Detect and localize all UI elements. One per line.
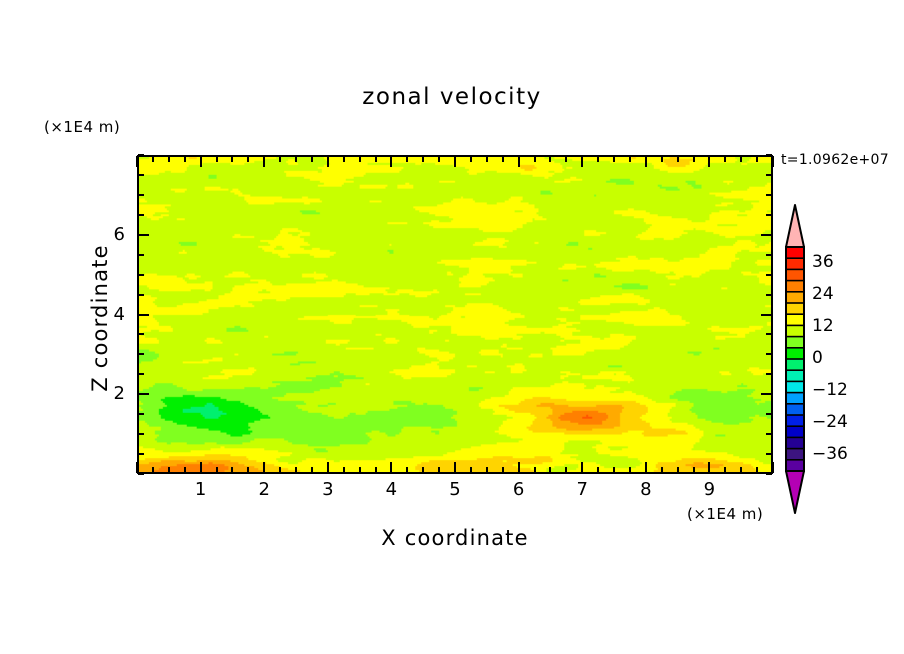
y-tick-minor (138, 174, 144, 176)
x-tick-minor (311, 467, 313, 473)
x-tick-minor (756, 467, 758, 473)
colorbar-tick-label: −24 (812, 412, 848, 432)
x-tick-minor (168, 467, 170, 473)
x-tick-minor (231, 467, 233, 473)
x-tick-label: 2 (249, 479, 279, 500)
x-tick-minor-top (661, 156, 663, 162)
y-tick-minor (138, 214, 144, 216)
x-tick-minor-top (677, 156, 679, 162)
y-tick-minor (138, 254, 144, 256)
y-tick-minor (138, 274, 144, 276)
x-tick-label: 5 (440, 479, 470, 500)
x-axis-title: X coordinate (137, 526, 773, 550)
y-tick-minor (138, 353, 144, 355)
y-tick-label: 4 (91, 304, 125, 325)
x-tick-minor (565, 467, 567, 473)
x-tick-minor-top (295, 156, 297, 162)
x-tick-major-top (645, 156, 647, 167)
colorbar-tick-label: −36 (812, 444, 848, 464)
x-tick-major-top (390, 156, 392, 167)
y-tick-minor (138, 473, 144, 475)
x-tick-minor (724, 467, 726, 473)
x-tick-minor-top (311, 156, 313, 162)
x-tick-minor (534, 467, 536, 473)
x-tick-minor (470, 467, 472, 473)
x-tick-major (390, 462, 392, 473)
colorbar-tick-label: 12 (812, 316, 834, 336)
x-tick-major (581, 462, 583, 473)
y-tick-minor (138, 194, 144, 196)
x-tick-minor-top (740, 156, 742, 162)
x-tick-major (772, 462, 774, 473)
x-tick-label: 8 (631, 479, 661, 500)
x-tick-minor (422, 467, 424, 473)
x-tick-major (708, 462, 710, 473)
y-tick-minor-right (766, 294, 772, 296)
y-tick-minor-right (766, 254, 772, 256)
x-tick-major-top (454, 156, 456, 167)
x-tick-major-top (518, 156, 520, 167)
x-tick-minor-top (247, 156, 249, 162)
y-tick-minor-right (766, 413, 772, 415)
x-tick-minor-top (406, 156, 408, 162)
colorbar-tick-label: 36 (812, 252, 834, 272)
x-tick-minor-top (597, 156, 599, 162)
x-tick-major (136, 462, 138, 473)
x-tick-minor-top (724, 156, 726, 162)
colorbar (782, 203, 808, 515)
x-tick-minor-top (359, 156, 361, 162)
x-tick-minor (661, 467, 663, 473)
x-tick-minor-top (216, 156, 218, 162)
y-tick-minor (138, 433, 144, 435)
x-tick-minor (740, 467, 742, 473)
x-tick-minor-top (422, 156, 424, 162)
x-tick-minor-top (152, 156, 154, 162)
x-tick-minor (295, 467, 297, 473)
x-tick-minor (502, 467, 504, 473)
x-tick-minor-top (184, 156, 186, 162)
x-tick-major (200, 462, 202, 473)
x-tick-minor-top (375, 156, 377, 162)
x-tick-minor (613, 467, 615, 473)
x-tick-minor (693, 467, 695, 473)
colorbar-tick-label: −12 (812, 380, 848, 400)
y-tick-minor-right (766, 353, 772, 355)
y-tick-minor (138, 373, 144, 375)
x-tick-major (263, 462, 265, 473)
x-tick-major-top (708, 156, 710, 167)
y-tick-minor-right (766, 154, 772, 156)
x-tick-minor (152, 467, 154, 473)
x-tick-minor-top (534, 156, 536, 162)
x-tick-label: 6 (504, 479, 534, 500)
x-tick-major-top (327, 156, 329, 167)
y-tick-major (138, 393, 149, 395)
x-tick-minor-top (470, 156, 472, 162)
x-tick-minor-top (343, 156, 345, 162)
y-tick-minor (138, 453, 144, 455)
y-tick-label: 2 (91, 383, 125, 404)
y-tick-minor-right (766, 333, 772, 335)
contour-plot-area (137, 155, 773, 474)
y-tick-minor-right (766, 194, 772, 196)
y-tick-minor-right (766, 214, 772, 216)
x-tick-minor (184, 467, 186, 473)
x-tick-major-top (200, 156, 202, 167)
x-tick-minor-top (168, 156, 170, 162)
y-tick-major-right (761, 314, 772, 316)
x-tick-minor (629, 467, 631, 473)
x-tick-minor (279, 467, 281, 473)
x-tick-minor-top (613, 156, 615, 162)
x-tick-minor (486, 467, 488, 473)
colorbar-tick-label: 24 (812, 284, 834, 304)
x-tick-minor-top (756, 156, 758, 162)
x-tick-major-top (772, 156, 774, 167)
x-axis-units-label: (×1E4 m) (687, 505, 763, 523)
y-tick-minor (138, 154, 144, 156)
y-tick-major-right (761, 393, 772, 395)
x-tick-minor-top (486, 156, 488, 162)
x-tick-minor-top (565, 156, 567, 162)
x-tick-minor-top (549, 156, 551, 162)
y-tick-minor-right (766, 453, 772, 455)
y-tick-minor (138, 413, 144, 415)
x-tick-major (645, 462, 647, 473)
y-tick-label: 6 (91, 224, 125, 245)
y-tick-minor-right (766, 373, 772, 375)
x-tick-major-top (581, 156, 583, 167)
x-tick-major (327, 462, 329, 473)
x-tick-major (518, 462, 520, 473)
page-title: zonal velocity (0, 84, 904, 110)
y-tick-minor-right (766, 174, 772, 176)
x-tick-minor-top (693, 156, 695, 162)
x-tick-minor (438, 467, 440, 473)
colorbar-tick-label: 0 (812, 348, 823, 368)
x-tick-major (454, 462, 456, 473)
x-tick-minor (247, 467, 249, 473)
x-tick-minor-top (279, 156, 281, 162)
y-tick-minor-right (766, 433, 772, 435)
x-tick-label: 3 (313, 479, 343, 500)
x-tick-minor (597, 467, 599, 473)
y-tick-major (138, 234, 149, 236)
x-tick-label: 1 (186, 479, 216, 500)
y-tick-major-right (761, 234, 772, 236)
x-tick-label: 7 (567, 479, 597, 500)
y-tick-minor-right (766, 274, 772, 276)
chart-root: zonal velocity (×1E4 m) (×1E4 m) X coord… (0, 0, 904, 654)
y-tick-minor (138, 294, 144, 296)
x-tick-label: 9 (694, 479, 724, 500)
x-tick-major-top (263, 156, 265, 167)
y-axis-units-label: (×1E4 m) (44, 118, 120, 136)
x-tick-minor (406, 467, 408, 473)
x-tick-minor (359, 467, 361, 473)
x-tick-minor (677, 467, 679, 473)
x-tick-label: 4 (376, 479, 406, 500)
x-tick-major-top (136, 156, 138, 167)
x-tick-minor-top (438, 156, 440, 162)
x-tick-minor-top (629, 156, 631, 162)
y-tick-minor-right (766, 473, 772, 475)
timestamp-annotation: t=1.0962e+07 (781, 152, 889, 168)
x-tick-minor (375, 467, 377, 473)
y-tick-major (138, 314, 149, 316)
y-tick-minor (138, 333, 144, 335)
x-tick-minor (216, 467, 218, 473)
x-tick-minor-top (502, 156, 504, 162)
x-tick-minor (549, 467, 551, 473)
x-tick-minor (343, 467, 345, 473)
x-tick-minor-top (231, 156, 233, 162)
contour-field-canvas (139, 157, 771, 472)
